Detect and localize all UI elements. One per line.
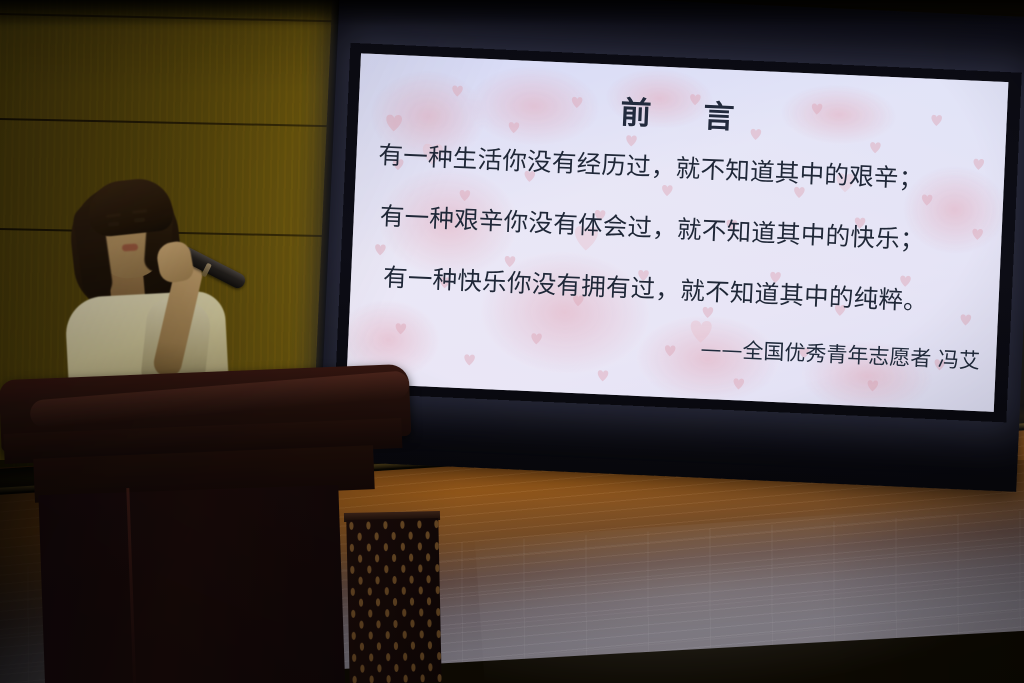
- presentation-slide: 前 言 有一种生活你没有经历过，就不知道其中的艰辛； 有一种艰辛你没有体会过，就…: [346, 53, 1008, 412]
- eye-left: [108, 222, 119, 227]
- hair-fringe: [85, 176, 174, 238]
- presentation-scene: 前 言 有一种生活你没有经历过，就不知道其中的艰辛； 有一种艰辛你没有体会过，就…: [0, 0, 1024, 683]
- podium-body: [38, 485, 345, 683]
- perforated-side-panel: [346, 518, 441, 683]
- eye-right: [134, 218, 145, 223]
- lips: [122, 243, 138, 251]
